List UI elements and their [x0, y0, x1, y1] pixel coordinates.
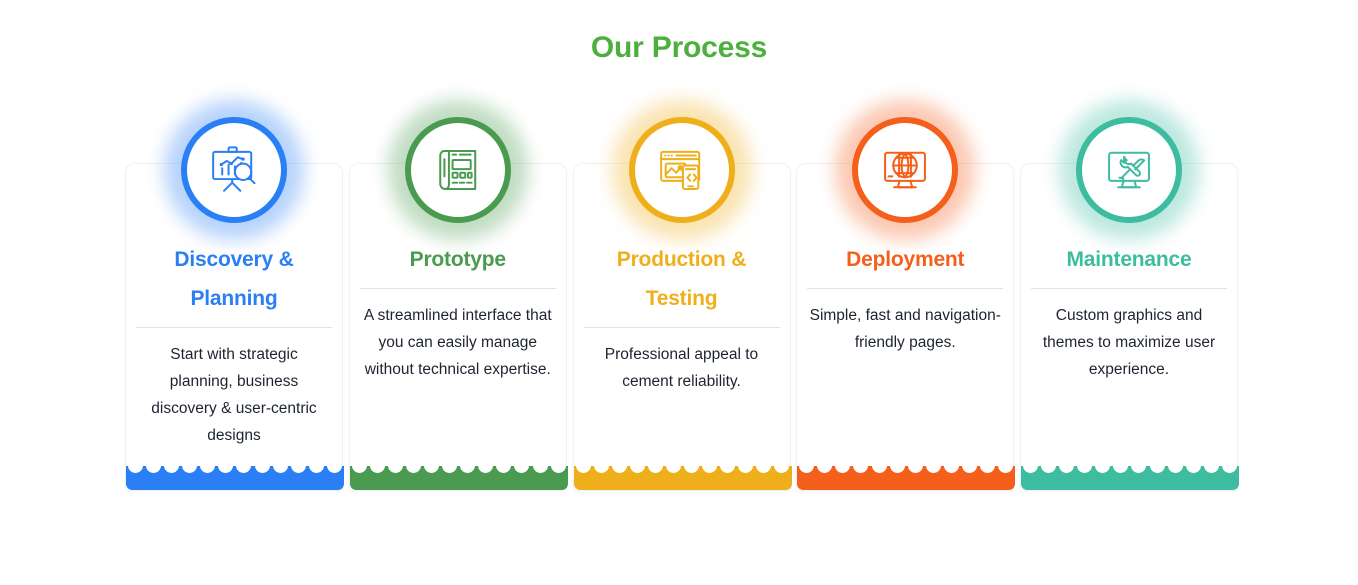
card-description-2: A streamlined interface that you can eas… [362, 302, 554, 383]
icon-badge-4 [852, 117, 958, 223]
card-divider-3 [584, 327, 780, 328]
wireframe-blueprint-icon [429, 141, 487, 199]
card-divider-1 [136, 327, 332, 328]
card-title-2: Prototype [410, 240, 506, 279]
card-scalloped-footer-2 [350, 458, 568, 490]
icon-badge-2 [405, 117, 511, 223]
card-description-3: Professional appeal to cement reliabilit… [586, 341, 778, 395]
card-title-1: Discovery & Planning [138, 240, 330, 318]
icon-badge-3 [629, 117, 735, 223]
card-title-5: Maintenance [1067, 240, 1192, 279]
card-title-3: Production & Testing [586, 240, 778, 318]
process-card-deployment[interactable]: Deployment Simple, fast and navigation-f… [796, 117, 1014, 491]
process-card-production-testing[interactable]: Production & Testing Professional appeal… [573, 117, 791, 491]
monitor-globe-icon [876, 141, 934, 199]
card-scalloped-footer-4 [797, 458, 1015, 490]
card-description-1: Start with strategic planning, business … [138, 341, 330, 449]
process-card-prototype[interactable]: Prototype A streamlined interface that y… [349, 117, 567, 491]
card-description-4: Simple, fast and navigation-friendly pag… [809, 302, 1001, 356]
card-scalloped-footer-3 [574, 458, 792, 490]
monitor-tools-icon [1100, 141, 1158, 199]
icon-badge-5 [1076, 117, 1182, 223]
process-cards-row: Discovery & Planning Start with strategi… [125, 117, 1238, 491]
card-scalloped-footer-5 [1021, 458, 1239, 490]
card-divider-5 [1031, 288, 1227, 289]
card-description-5: Custom graphics and themes to maximize u… [1033, 302, 1225, 383]
browser-mobile-code-icon [653, 141, 711, 199]
card-title-4: Deployment [846, 240, 964, 279]
card-divider-2 [360, 288, 556, 289]
icon-badge-1 [181, 117, 287, 223]
page-title: Our Process [0, 0, 1358, 68]
chart-presentation-search-icon [205, 141, 263, 199]
card-scalloped-footer-1 [126, 458, 344, 490]
process-card-maintenance[interactable]: Maintenance Custom graphics and themes t… [1020, 117, 1238, 491]
card-divider-4 [807, 288, 1003, 289]
process-card-discovery-planning[interactable]: Discovery & Planning Start with strategi… [125, 117, 343, 491]
